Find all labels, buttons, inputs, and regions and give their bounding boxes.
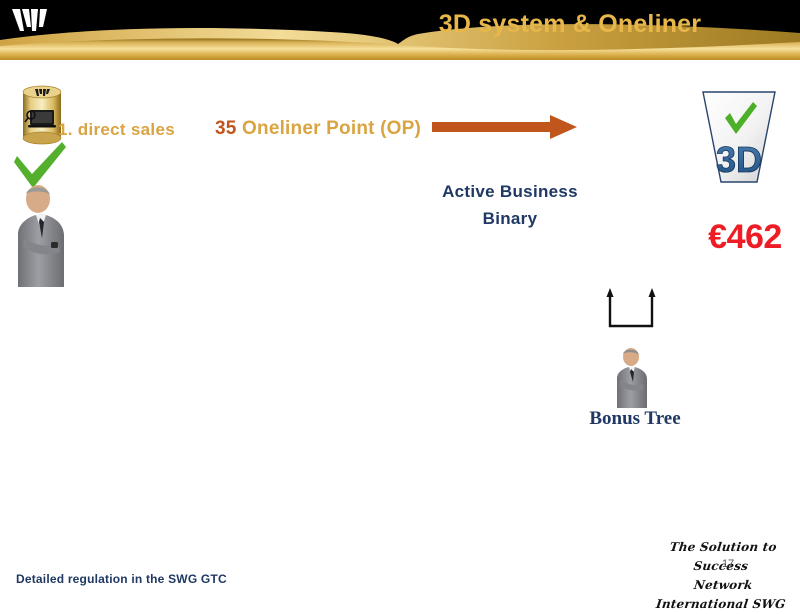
step-label-direct-sales: 1. direct sales <box>58 120 175 140</box>
page-number: 17 <box>722 558 734 570</box>
svg-text:3D: 3D <box>716 139 762 180</box>
oneliner-points-line: 35 Oneliner Point (OP) <box>215 118 421 140</box>
signature-line-1: The Solution to Success <box>646 538 799 576</box>
right-arrow-icon <box>432 113 577 141</box>
signature-block: The Solution to Success Network Internat… <box>648 538 796 614</box>
oneliner-points-number: 35 <box>215 118 237 139</box>
active-business-binary-label: Active Business Binary <box>410 178 610 232</box>
price-value: €462 <box>690 218 800 257</box>
signature-line-2: Network International SWG <box>646 576 799 614</box>
footer-note: Detailed regulation in the SWG GTC <box>16 572 227 586</box>
active-business-line1: Active Business <box>410 178 610 205</box>
businessman-photo-left <box>4 182 76 287</box>
3d-funnel-logo-icon: 3D <box>697 88 781 186</box>
bonus-tree-label: Bonus Tree <box>570 408 700 430</box>
active-business-line2: Binary <box>410 205 610 232</box>
businessman-photo-bonus <box>608 346 656 408</box>
oneliner-points-text: Oneliner Point (OP) <box>242 118 421 139</box>
u-bracket-up-arrows-icon <box>605 288 657 330</box>
page-title: 3D system & Oneliner <box>400 10 740 39</box>
slide-header: 3D system & Oneliner <box>0 0 800 60</box>
w-brand-logo-icon <box>8 5 58 39</box>
